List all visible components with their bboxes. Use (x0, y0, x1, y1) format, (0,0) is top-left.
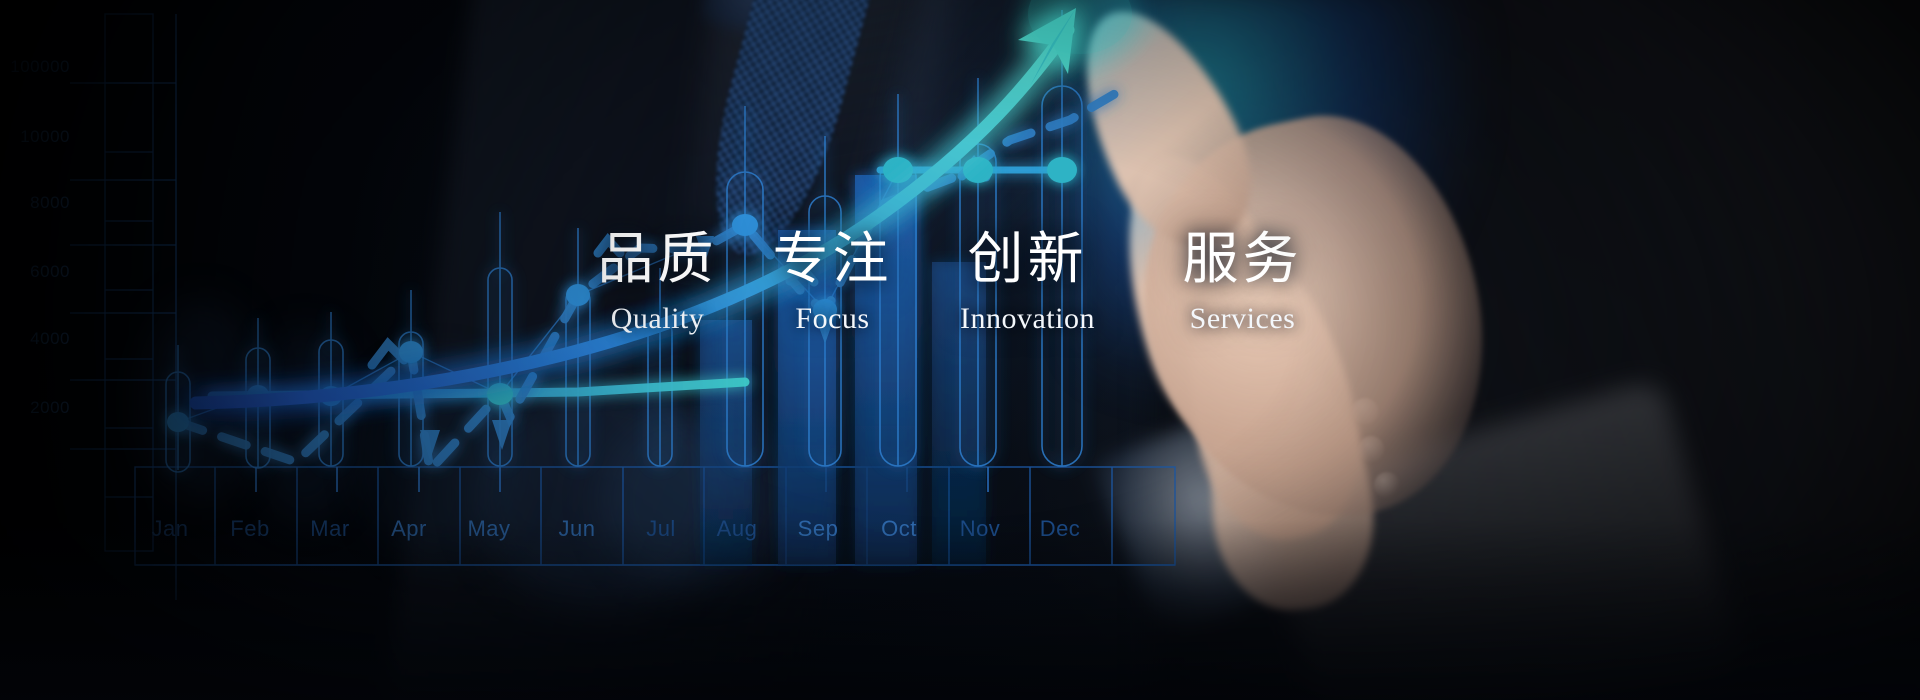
x-tick-label-jun: Jun (532, 516, 622, 542)
connector-line (178, 170, 1062, 422)
y-tick-label: 2000 (0, 398, 70, 418)
x-tick-label-nov: Nov (935, 516, 1025, 542)
x-tick-label-mar: Mar (285, 516, 375, 542)
chart-overlay (0, 0, 1920, 700)
y-axis-grid (105, 14, 153, 551)
x-tick-label-jan: Jan (125, 516, 215, 542)
y-tick-label: 6000 (0, 262, 70, 282)
x-tick-label-may: May (444, 516, 534, 542)
x-tick-label-sep: Sep (773, 516, 863, 542)
y-tick-label: 100000 (0, 57, 70, 77)
x-tick-label-apr: Apr (364, 516, 454, 542)
hero-banner: 100000 10000 8000 6000 4000 2000 Jan Feb… (0, 0, 1920, 700)
y-tick-label: 10000 (0, 127, 70, 147)
y-tick-label: 4000 (0, 329, 70, 349)
dashed-arrow-down (420, 236, 834, 460)
x-tick-label-oct: Oct (854, 516, 944, 542)
y-gridlines (70, 83, 176, 449)
x-tick-label-dec: Dec (1015, 516, 1105, 542)
x-tick-label-feb: Feb (205, 516, 295, 542)
y-tick-label: 8000 (0, 193, 70, 213)
arrow-tip-glow (1028, 0, 1132, 54)
x-tick-label-aug: Aug (692, 516, 782, 542)
